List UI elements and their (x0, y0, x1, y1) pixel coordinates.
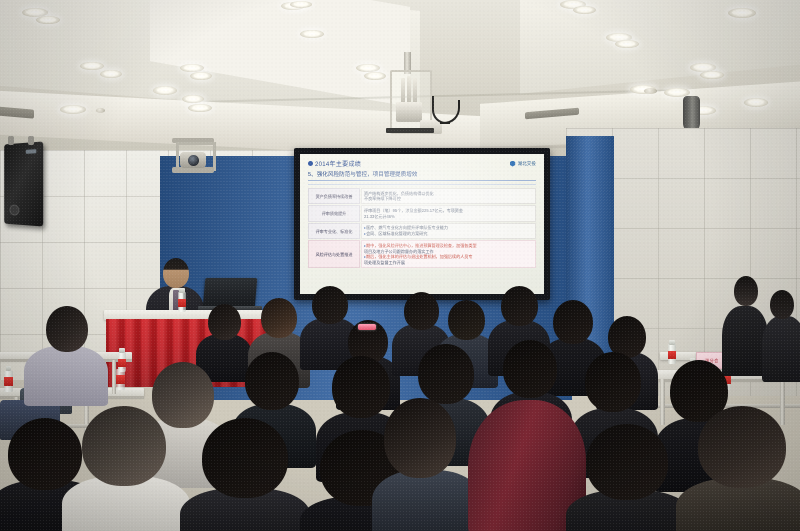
row-content-cell: ▸医疗、燃气专业化方向提升评审队伍专业能力 ▸会同、区域标准化管理的方案研究 (361, 223, 536, 239)
downlight (573, 6, 596, 14)
content-line: 21.33亿元计46% (364, 214, 533, 220)
attendee-front-row (180, 418, 310, 531)
attendee-front-row (62, 406, 190, 531)
projector-fin (407, 76, 411, 104)
table-row: 评审质效提升 评审项目（笔）95个，涉及金额225.17亿元，专项资金 21.3… (308, 205, 536, 221)
projector-body (396, 102, 422, 122)
downlight (182, 95, 204, 103)
ceiling-soffit-right (520, 0, 800, 94)
slide-content-table: 资产负债率持续改善 资产结构逐步优化，负债结构得以优化 不良率持续下降可控 评审… (308, 188, 536, 268)
row-label-cell: 风险评估与处置推进 (308, 240, 360, 268)
downlight (615, 40, 639, 48)
slide-rule (308, 180, 536, 181)
content-line: 不良率持续下降可控 (364, 196, 533, 202)
downlight (744, 98, 768, 107)
row-label-cell: 评审质效提升 (308, 205, 360, 221)
row-label: 评审质效提升 (322, 211, 347, 216)
downlight (80, 62, 104, 70)
downlight (356, 64, 380, 72)
slide-subheading: 5、强化风险防范与管控，项目管理提质增效 (308, 170, 536, 178)
attendee-front-row (566, 424, 692, 531)
slide-logo-text: 湖北交投 (518, 161, 536, 167)
content-line: ▸会同、区域标准化管理的方案研究 (364, 231, 533, 237)
slide-heading: 2014年主要成绩 (315, 159, 361, 168)
presentation-slide: 2014年主要成绩 湖北交投 5、强化风险防范与管控，项目管理提质增效 资产负债… (300, 154, 544, 294)
attendee-front-row (676, 406, 800, 531)
row-content-cell: 评审项目（笔）95个，涉及金额225.17亿元，专项资金 21.33亿元计46% (361, 205, 536, 221)
downlight (190, 72, 212, 80)
row-label: 风险评估与处置推进 (316, 252, 353, 257)
downlight (60, 105, 86, 114)
wall-pa-speaker (4, 141, 43, 226)
table-row: 评审专业化、标准化 ▸医疗、燃气专业化方向提升评审队伍专业能力 ▸会同、区域标准… (308, 223, 536, 239)
bullet-dot-icon (308, 161, 313, 166)
downlight (153, 86, 177, 95)
attendee-front-row-suit (372, 398, 482, 531)
projector-shadow-plate (386, 128, 434, 133)
water-bottle (118, 348, 126, 372)
speaker-bracket-left (8, 136, 14, 145)
content-line: 项处理及监督工作开展 (364, 260, 533, 266)
downlight (100, 70, 122, 78)
projector-fin (401, 78, 405, 104)
slide-rule-secondary (308, 184, 536, 185)
slide-title-group: 2014年主要成绩 (308, 159, 361, 168)
attendee-left-grayshirt (24, 306, 108, 398)
row-content-cell: 资产结构逐步优化，负债结构得以优化 不良率持续下降可控 (361, 188, 536, 204)
row-label-cell: 资产负债率持续改善 (308, 188, 360, 204)
speaker-bracket-right (28, 136, 34, 145)
downlight (300, 30, 324, 38)
table-row-highlighted: 风险评估与处置推进 ▸期中，强化风险评估中心，推进预算管理及检查，加强各类型 项… (308, 240, 536, 268)
downlight (36, 16, 60, 24)
row-label: 评审专业化、标准化 (316, 229, 353, 234)
camera-lens-icon (188, 155, 199, 166)
projection-screen[interactable]: 2014年主要成绩 湖北交投 5、强化风险防范与管控，项目管理提质增效 资产负债… (300, 154, 544, 294)
downlight (188, 104, 212, 112)
downlight (364, 72, 386, 80)
water-bottle (4, 366, 13, 392)
conference-room-photo: 2014年主要成绩 湖北交投 5、强化风险防范与管控，项目管理提质增效 资产负债… (0, 0, 800, 531)
row-content-cell: ▸期中，强化风险评估中心，推进预算管理及检查，加强各类型 项目及地方子公司跟踪督… (361, 240, 536, 268)
row-label: 资产负债率持续改善 (316, 194, 353, 199)
downlight (728, 8, 756, 18)
smoke-detector-2 (96, 108, 105, 113)
smoke-detector (644, 88, 657, 94)
slide-logo: 湖北交投 (510, 161, 536, 167)
water-bottle (178, 288, 186, 312)
projector-fin (413, 78, 417, 104)
ceiling-dome-device (683, 96, 700, 132)
attendee-right-far (762, 290, 800, 380)
company-logo-icon (510, 161, 516, 167)
slide-header: 2014年主要成绩 湖北交投 (308, 159, 536, 168)
table-row: 资产负债率持续改善 资产结构逐步优化，负债结构得以优化 不良率持续下降可控 (308, 188, 536, 204)
downlight (180, 64, 204, 72)
downlight (700, 71, 724, 79)
row-label-cell: 评审专业化、标准化 (308, 223, 360, 239)
downlight (290, 1, 312, 8)
